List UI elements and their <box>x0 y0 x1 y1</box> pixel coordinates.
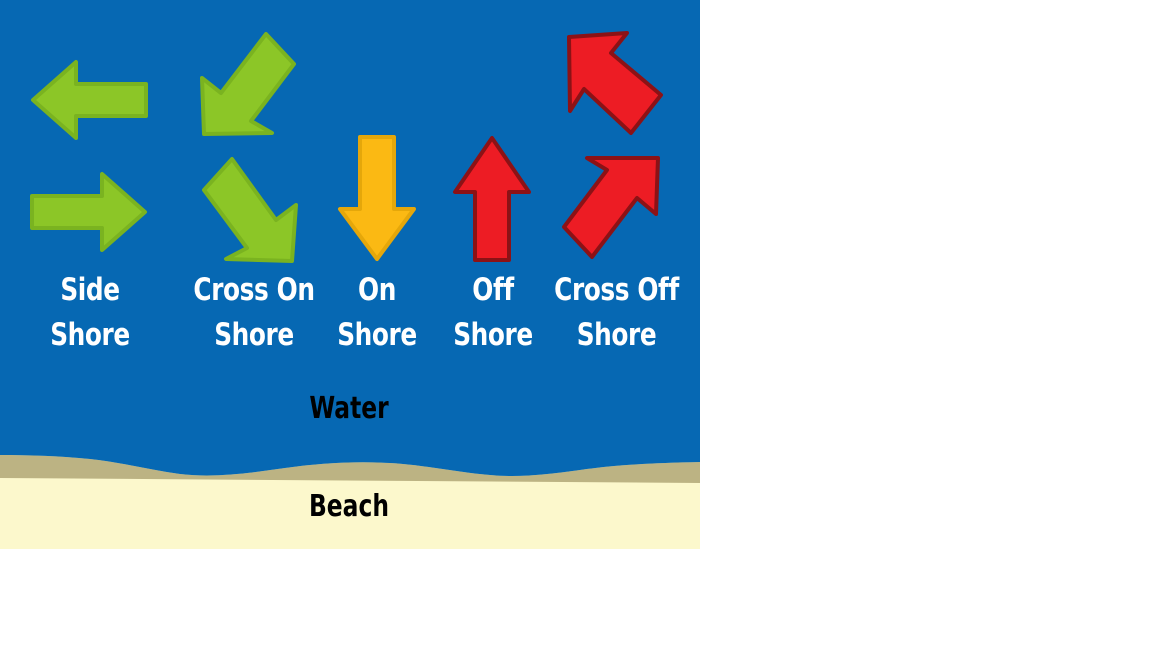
wind-label-side-shore: Side Shore <box>22 268 158 358</box>
arrow-right-icon <box>28 170 150 254</box>
wind-label-cross-on-shore: Cross On Shore <box>182 268 326 358</box>
wind-label-off-shore: Off Shore <box>433 268 553 358</box>
wind-label-on-shore: On Shore <box>317 268 437 358</box>
arrow-down-icon <box>336 133 418 263</box>
zone-caption-beach: Beach <box>271 490 427 524</box>
wind-label-cross-off-shore: Cross Off Shore <box>547 268 687 358</box>
figure-canvas: Side Shore Cross On Shore On Shore Off S… <box>0 0 1152 648</box>
arrow-up-icon <box>451 134 533 264</box>
arrow-up-left-icon <box>560 27 665 139</box>
arrow-down-right-icon <box>200 155 300 265</box>
zone-caption-water: Water <box>271 392 427 426</box>
beach-wind-diagram: Side Shore Cross On Shore On Shore Off S… <box>0 0 700 549</box>
arrow-left-icon <box>28 58 150 142</box>
arrow-down-left-icon <box>198 30 298 140</box>
arrow-up-right-icon <box>560 150 665 262</box>
